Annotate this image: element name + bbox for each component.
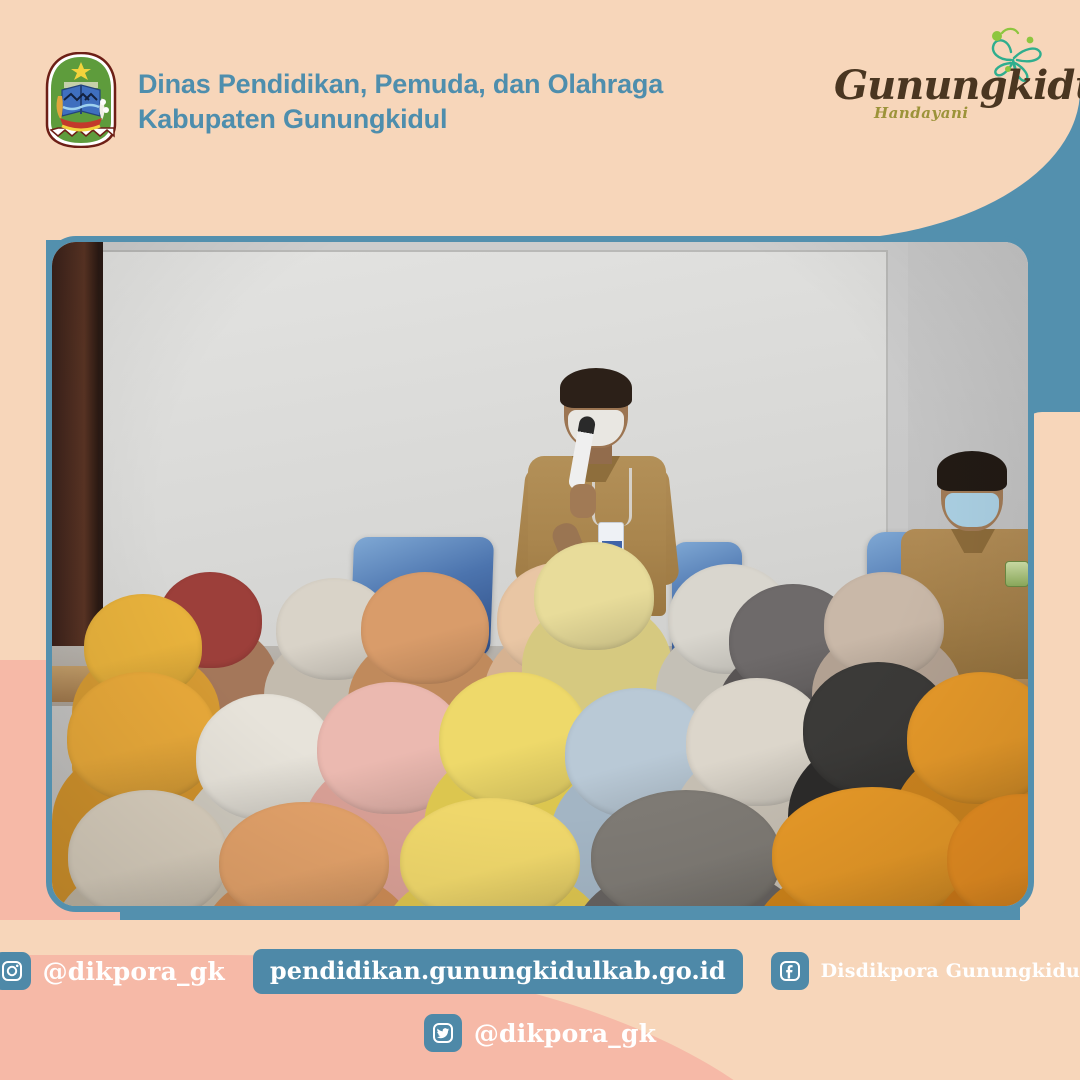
brand-wordmark: Gunungkidul — [834, 62, 1080, 109]
twitter-link[interactable]: @dikpora_gk — [424, 1014, 656, 1052]
footer-row-secondary: @dikpora_gk — [0, 1004, 1080, 1062]
page-title-line-1: Dinas Pendidikan, Pemuda, dan Olahraga — [138, 67, 663, 102]
website-url-pill[interactable]: pendidikan.gunungkidulkab.go.id — [253, 949, 743, 994]
twitter-handle: @dikpora_gk — [474, 1019, 656, 1048]
twitter-icon[interactable] — [424, 1014, 462, 1052]
poster-header: Dinas Pendidikan, Pemuda, dan Olahraga K… — [0, 0, 900, 200]
regency-crest-icon — [44, 52, 118, 148]
facebook-link[interactable]: Disdikpora Gunungkidul — [771, 952, 1080, 990]
instagram-link[interactable]: @dikpora_gk — [0, 952, 225, 990]
event-photo — [52, 242, 1028, 906]
audience-group — [52, 242, 1028, 906]
facebook-icon[interactable] — [771, 952, 809, 990]
page-title-line-2: Kabupaten Gunungkidul — [138, 102, 663, 137]
event-photo-card — [46, 236, 1034, 912]
audience-member-hijab — [67, 672, 217, 802]
facebook-page-name: Disdikpora Gunungkidul — [821, 960, 1080, 982]
header-title-group: Dinas Pendidikan, Pemuda, dan Olahraga K… — [138, 67, 663, 136]
gunungkidul-brand-logo: Gunungkidul Handayani — [826, 26, 1056, 136]
audience-member-hijab — [534, 542, 654, 650]
poster-footer: @dikpora_gk pendidikan.gunungkidulkab.go… — [0, 938, 1080, 1080]
poster-canvas: Dinas Pendidikan, Pemuda, dan Olahraga K… — [0, 0, 1080, 1080]
footer-row-primary: @dikpora_gk pendidikan.gunungkidulkab.go… — [0, 938, 1080, 1004]
instagram-handle: @dikpora_gk — [43, 957, 225, 986]
instagram-icon[interactable] — [0, 952, 31, 990]
brand-tagline: Handayani — [874, 104, 969, 122]
audience-member-hijab — [361, 572, 489, 684]
